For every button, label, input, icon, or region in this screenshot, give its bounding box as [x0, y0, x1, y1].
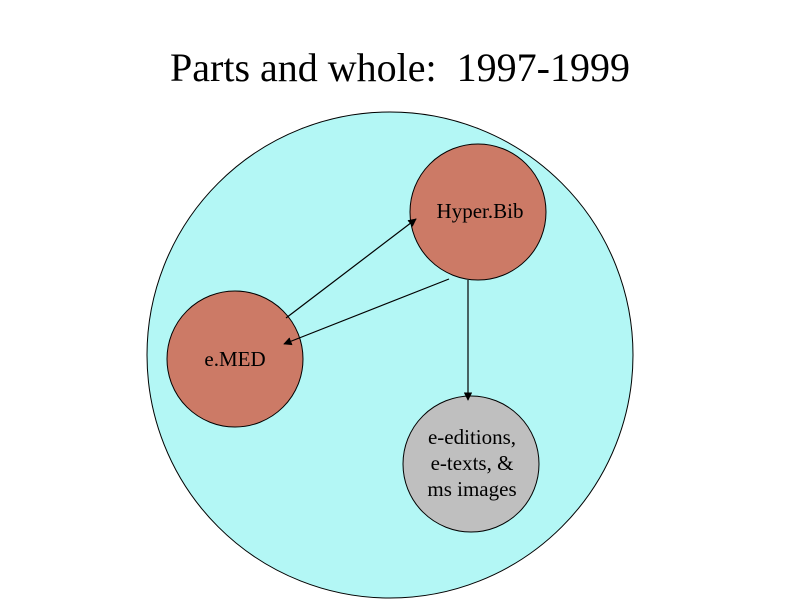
- slide-canvas: Parts and whole: 1997-1999 Hyper.Bib e.M…: [0, 0, 800, 600]
- node-circle-hyperbib[interactable]: [410, 144, 546, 280]
- diagram-graphic: [0, 0, 800, 600]
- node-circle-emed[interactable]: [167, 291, 303, 427]
- node-circle-e-editions[interactable]: [403, 396, 539, 532]
